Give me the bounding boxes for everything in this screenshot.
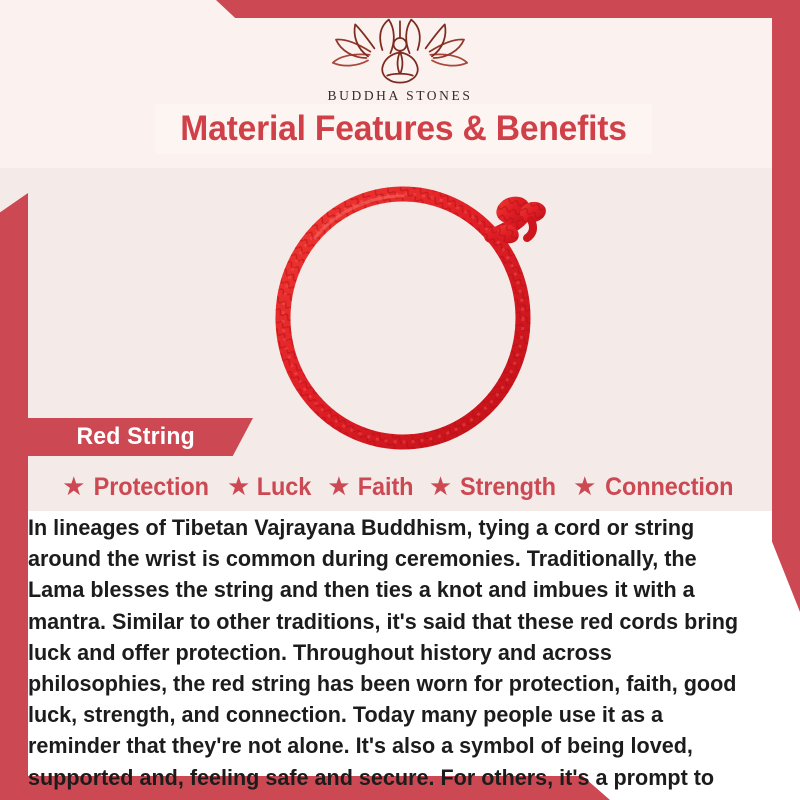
star-icon: ★ [573,473,596,499]
headline-banner: Material Features & Benefits [155,104,652,154]
brand-logo: BUDDHA STONES [0,18,800,104]
ribbon-label: Red String [76,423,194,451]
product-image [255,168,575,458]
benefit-item-strength: ★ Strength [422,473,566,502]
brand-name: BUDDHA STONES [328,88,473,104]
description-text: In lineages of Tibetan Vajrayana Buddhis… [28,512,742,800]
benefits-row: ★ Protection ★ Luck ★ Faith ★ Strength ★… [24,466,776,508]
benefit-label: Strength [460,473,556,502]
benefit-label: Connection [606,473,734,502]
benefit-item-protection: ★ Protection [55,473,220,502]
lotus-meditation-icon [320,18,480,86]
benefit-label: Protection [94,473,209,502]
red-string-ribbon: Red String [28,418,253,456]
benefit-item-luck: ★ Luck [220,473,320,502]
product-feature-poster: BUDDHA STONES Material Features & Benefi… [0,0,800,800]
star-icon: ★ [429,473,452,499]
page-title: Material Features & Benefits [180,109,627,149]
benefit-item-faith: ★ Faith [320,473,422,502]
star-icon: ★ [327,473,350,499]
benefit-label: Luck [257,473,311,502]
star-icon: ★ [227,473,250,499]
benefit-item-connection: ★ Connection [566,473,745,502]
star-icon: ★ [62,473,85,499]
benefit-label: Faith [357,473,413,502]
